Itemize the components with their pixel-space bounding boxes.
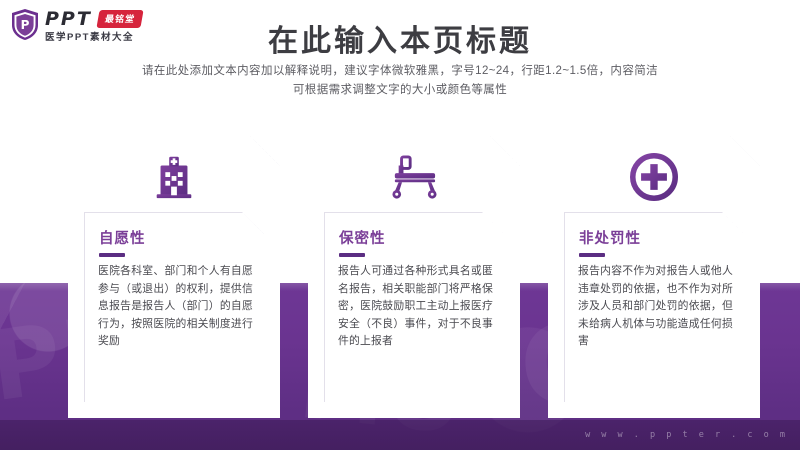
- info-card-non-punitive[interactable]: 非处罚性 报告内容不作为对报告人或他人违章处罚的依据，也不作为对所涉及人员和部门…: [548, 136, 760, 418]
- title-underline: [339, 253, 365, 257]
- hospital-stretcher-icon: [308, 146, 520, 208]
- card-row: 自愿性 医院各科室、部门和个人有自愿参与（或退出）的权利，提供信息报告是报告人（…: [0, 0, 800, 450]
- inner-folded-corner: [483, 213, 505, 235]
- card-inner-panel: 保密性 报告人可通过各种形式具名或匿名报告，相关职能部门将严格保密，医院鼓励职工…: [324, 212, 506, 404]
- hospital-building-icon: [68, 146, 280, 208]
- card-title: 保密性: [339, 227, 386, 248]
- card-inner-panel: 自愿性 医院各科室、部门和个人有自愿参与（或退出）的权利，提供信息报告是报告人（…: [84, 212, 266, 404]
- card-inner-panel: 非处罚性 报告内容不作为对报告人或他人违章处罚的依据，也不作为对所涉及人员和部门…: [564, 212, 746, 404]
- card-body-text: 报告人可通过各种形式具名或匿名报告，相关职能部门将严格保密，医院鼓励职工主动上报…: [338, 263, 493, 351]
- medical-cross-circle-icon: [548, 146, 760, 208]
- inner-folded-corner: [723, 213, 745, 235]
- title-underline: [579, 253, 605, 257]
- slide-canvas: PPT MO CN w w w . p p t e r . c o m P PP…: [0, 0, 800, 450]
- info-card-confidential[interactable]: 保密性 报告人可通过各种形式具名或匿名报告，相关职能部门将严格保密，医院鼓励职工…: [308, 136, 520, 418]
- inner-folded-corner: [243, 213, 265, 235]
- info-card-voluntary[interactable]: 自愿性 医院各科室、部门和个人有自愿参与（或退出）的权利，提供信息报告是报告人（…: [68, 136, 280, 418]
- card-title: 自愿性: [99, 227, 146, 248]
- card-title: 非处罚性: [579, 227, 641, 248]
- title-underline: [99, 253, 125, 257]
- card-body-text: 报告内容不作为对报告人或他人违章处罚的依据，也不作为对所涉及人员和部门处罚的依据…: [578, 263, 733, 351]
- card-body-text: 医院各科室、部门和个人有自愿参与（或退出）的权利，提供信息报告是报告人（部门）的…: [98, 263, 253, 351]
